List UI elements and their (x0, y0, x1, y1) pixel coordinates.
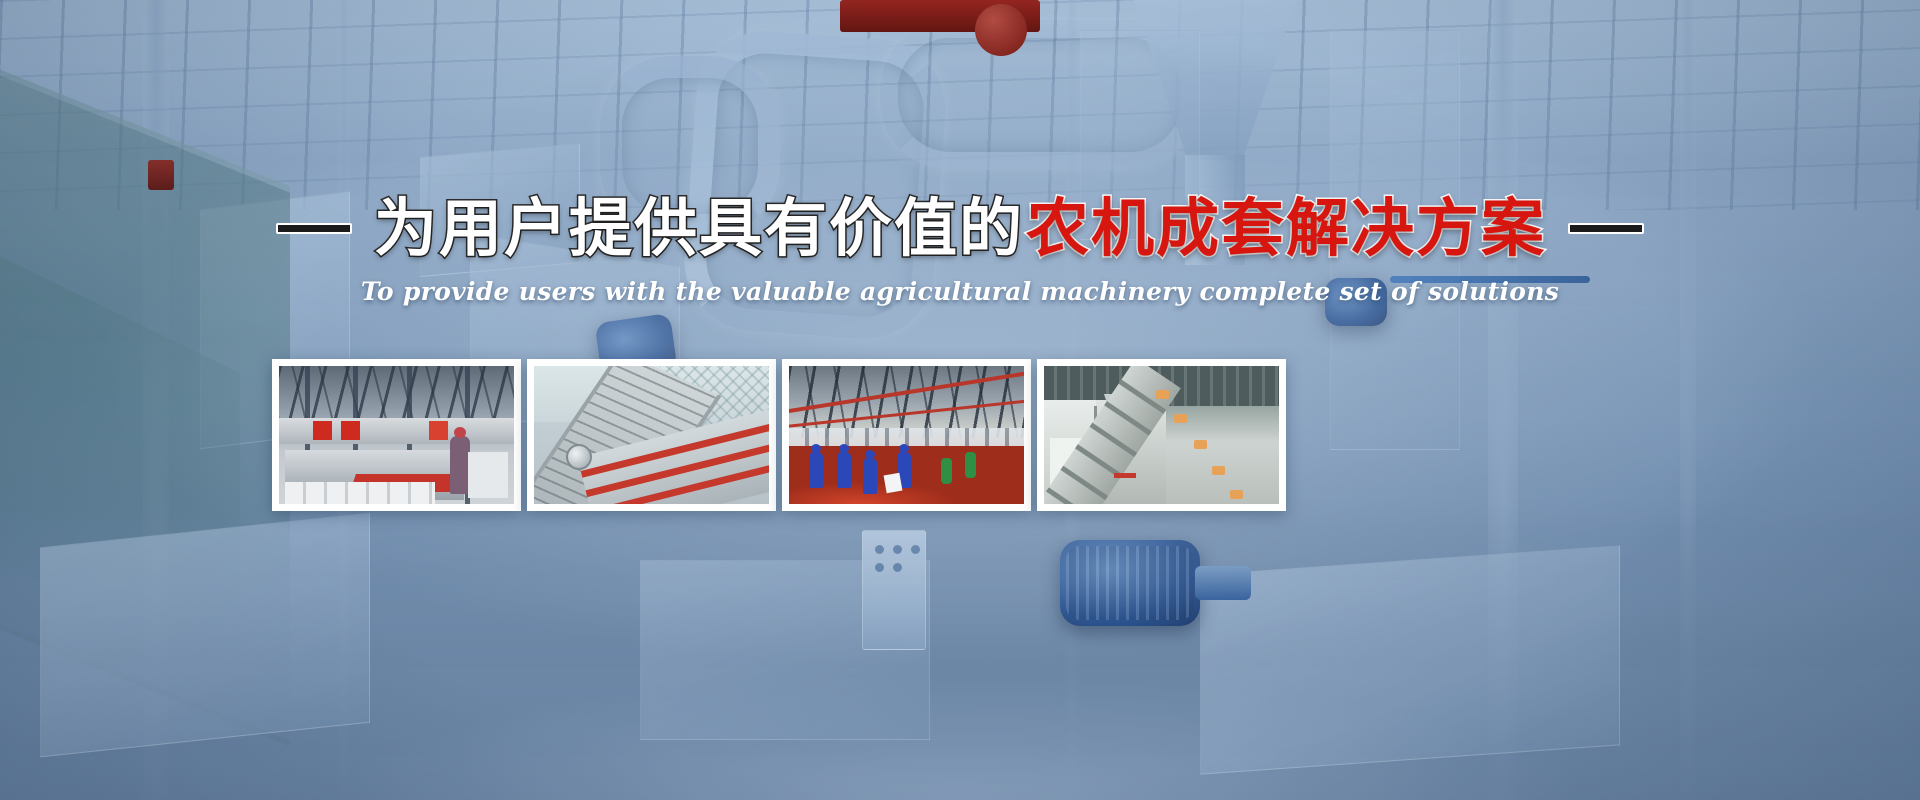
thumbnail-inclined-drying-conveyor[interactable] (527, 359, 776, 511)
banner-headline: 为用户提供具有价值的农机成套解决方案 (0, 198, 1920, 261)
headline-highlight-text: 农机成套解决方案 (1026, 194, 1546, 264)
headline-lead-dash-icon (276, 223, 352, 234)
headline-primary-text: 为用户提供具有价值的 (374, 194, 1024, 264)
thumbnail-packing-line-hall[interactable] (272, 359, 521, 511)
banner-subtitle: To provide users with the valuable agric… (0, 277, 1920, 306)
thumbnail-drying-yard-workers[interactable] (782, 359, 1031, 511)
headline-trail-dash-icon (1568, 223, 1644, 234)
thumbnail-gallery (272, 359, 1286, 511)
hero-banner: 为用户提供具有价值的农机成套解决方案 To provide users with… (0, 0, 1920, 800)
thumbnail-bucket-elevator-line[interactable] (1037, 359, 1286, 511)
